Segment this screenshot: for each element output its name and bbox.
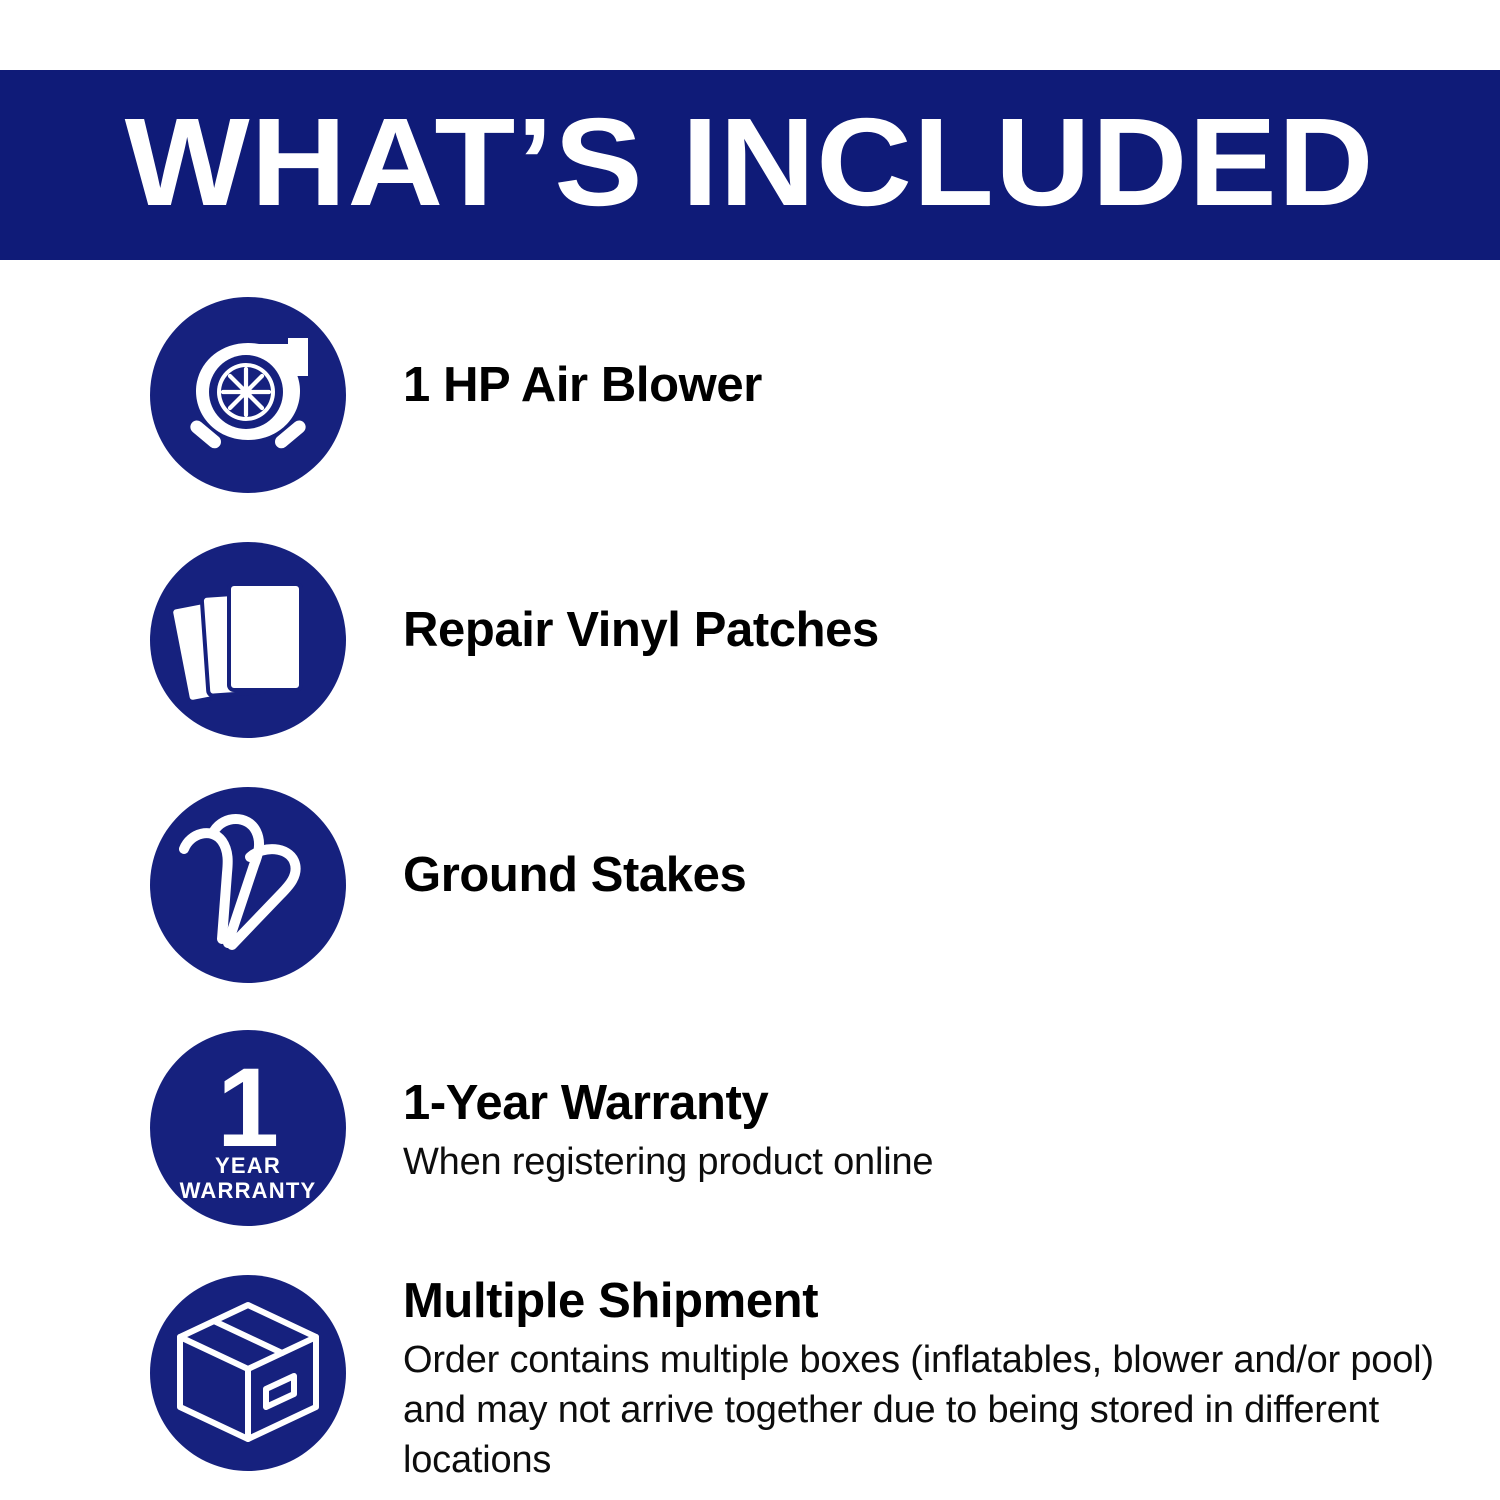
list-item: 1 YEAR WARRANTY 1-Year Warranty When reg… <box>0 1030 1500 1226</box>
list-item-title: Multiple Shipment <box>403 1275 1463 1329</box>
ground-stakes-icon <box>150 787 346 983</box>
list-item-title: 1-Year Warranty <box>403 1077 1463 1131</box>
list-item-text: Repair Vinyl Patches <box>403 604 1463 658</box>
list-item-text: 1-Year Warranty When registering product… <box>403 1077 1463 1187</box>
list-item: Repair Vinyl Patches <box>0 542 1500 738</box>
list-item: 1 HP Air Blower <box>0 297 1500 493</box>
list-item-text: Multiple Shipment Order contains multipl… <box>403 1275 1463 1485</box>
list-item-title: 1 HP Air Blower <box>403 359 1463 413</box>
page-title: WHAT’S INCLUDED <box>125 100 1375 231</box>
list-item-text: Ground Stakes <box>403 849 1463 903</box>
list-item-title: Repair Vinyl Patches <box>403 604 1463 658</box>
shipping-box-icon <box>150 1275 346 1471</box>
list-item-title: Ground Stakes <box>403 849 1463 903</box>
header-banner: WHAT’S INCLUDED <box>0 70 1500 260</box>
badge-year-label: YEAR <box>215 1153 281 1178</box>
list-item-text: 1 HP Air Blower <box>403 359 1463 413</box>
badge-warranty-label: WARRANTY <box>180 1178 317 1203</box>
list-item: Multiple Shipment Order contains multipl… <box>0 1275 1500 1475</box>
one-year-warranty-badge-icon: 1 YEAR WARRANTY <box>150 1030 346 1226</box>
badge-number: 1 <box>217 1045 279 1170</box>
air-blower-icon <box>150 297 346 493</box>
list-item-subtitle: When registering product online <box>403 1137 1463 1187</box>
vinyl-patches-icon <box>150 542 346 738</box>
list-item-subtitle: Order contains multiple boxes (inflatabl… <box>403 1335 1448 1485</box>
list-item: Ground Stakes <box>0 787 1500 983</box>
